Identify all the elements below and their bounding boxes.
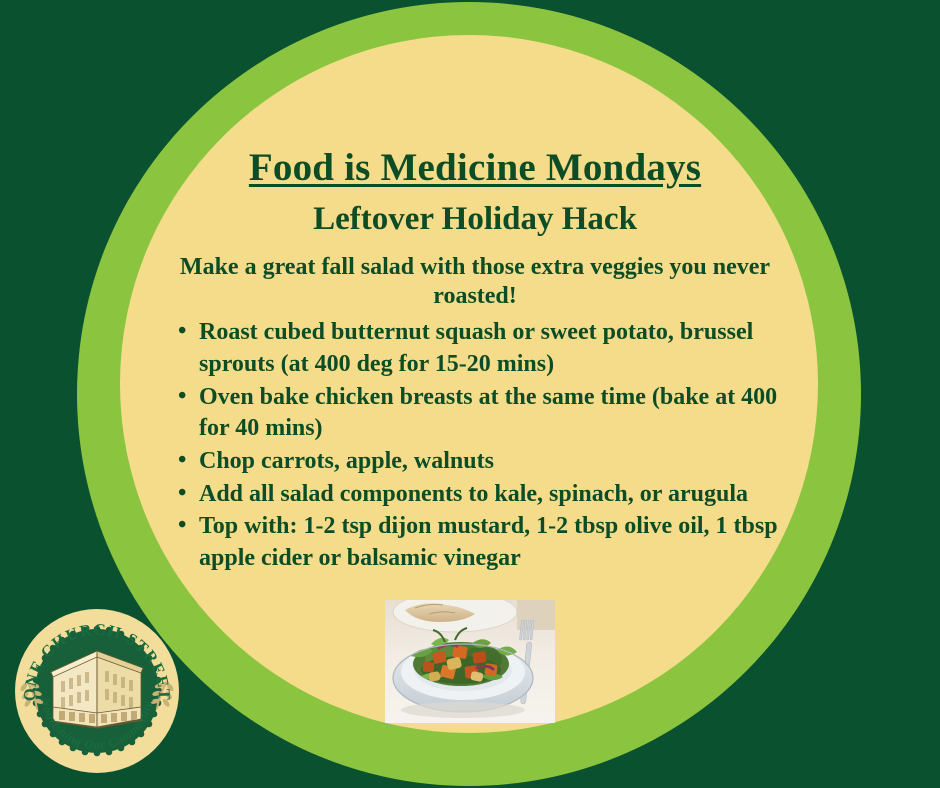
list-item: Top with: 1-2 tsp dijon mustard, 1-2 tbs… bbox=[172, 511, 790, 574]
page-title: Food is Medicine Mondays bbox=[160, 148, 790, 189]
list-item: Add all salad components to kale, spinac… bbox=[172, 479, 790, 511]
page-subtitle: Leftover Holiday Hack bbox=[160, 201, 790, 239]
logo-seal: ONE CHURCH STREET Nourishing Our Communi… bbox=[13, 607, 181, 775]
list-item: Chop carrots, apple, walnuts bbox=[172, 446, 790, 478]
poster-content: Food is Medicine Mondays Leftover Holida… bbox=[160, 148, 790, 576]
list-item: Oven bake chicken breasts at the same ti… bbox=[172, 382, 790, 445]
intro-text: Make a great fall salad with those extra… bbox=[174, 253, 776, 312]
recipe-steps-list: Roast cubed butternut squash or sweet po… bbox=[160, 317, 790, 574]
list-item: Roast cubed butternut squash or sweet po… bbox=[172, 317, 790, 380]
salad-photo bbox=[385, 600, 555, 723]
poster-canvas: Food is Medicine Mondays Leftover Holida… bbox=[0, 0, 940, 788]
